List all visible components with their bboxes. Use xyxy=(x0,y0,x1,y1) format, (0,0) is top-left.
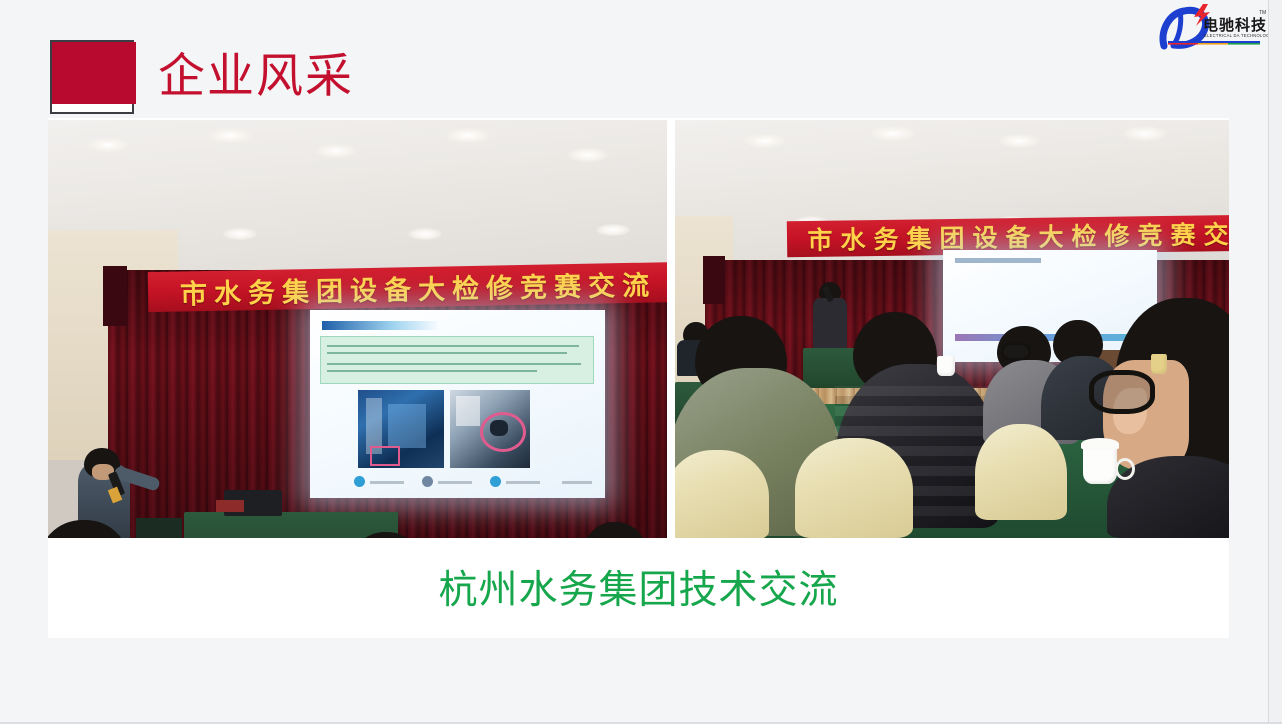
eyeglasses xyxy=(1089,370,1155,414)
slide-footer-icon xyxy=(422,476,433,487)
slide-note-box xyxy=(320,336,594,384)
red-accent-block xyxy=(48,38,136,116)
chair-cover xyxy=(795,438,913,538)
page-scrollbar-gutter[interactable] xyxy=(1269,0,1282,724)
tea-cup xyxy=(937,356,955,376)
red-accent-block-fill xyxy=(52,42,136,104)
stage-equipment xyxy=(216,500,244,512)
drink-bottle xyxy=(1151,354,1167,374)
tea-cup-handle xyxy=(1115,458,1135,480)
svg-text:电驰科技: 电驰科技 xyxy=(1203,16,1267,34)
ceiling-light xyxy=(208,128,252,143)
slide-footer-icon xyxy=(354,476,365,487)
chair-cover xyxy=(975,424,1067,520)
chair-cover xyxy=(675,450,769,538)
content-card: 市水务集团设备大检修竞赛交流 xyxy=(48,118,1229,638)
ceiling-light xyxy=(223,228,257,240)
svg-text:ELECTRICAL DA TECHNOLOGY: ELECTRICAL DA TECHNOLOGY xyxy=(1204,33,1270,38)
ceiling-light xyxy=(999,134,1039,148)
projection-screen xyxy=(310,310,605,498)
slide-image-right xyxy=(450,390,530,468)
slide-title-bar xyxy=(322,321,440,330)
photo-audience-seated[interactable]: 市水务集团设备大检修竞赛交 xyxy=(675,120,1229,538)
page-root: 电驰科技 TM ELECTRICAL DA TECHNOLOGY 企业风采 xyxy=(0,0,1282,724)
slide-footer-icon xyxy=(490,476,501,487)
page-title: 企业风采 xyxy=(158,54,354,101)
ceiling-light xyxy=(316,144,356,158)
ceiling-light xyxy=(596,224,630,236)
stage-speakerbox xyxy=(136,518,182,538)
photo-caption-text: 杭州水务集团技术交流 xyxy=(438,571,838,610)
photo-caption: 杭州水务集团技术交流 xyxy=(48,542,1229,638)
curtain-valance xyxy=(103,266,127,326)
photo-presentation-stage[interactable]: 市水务集团设备大检修竞赛交流 xyxy=(48,120,667,538)
photo-gallery: 市水务集团设备大检修竞赛交流 xyxy=(48,120,1229,538)
eyeglasses xyxy=(1001,342,1031,361)
ceiling-light xyxy=(88,138,128,152)
ceiling-light xyxy=(871,126,915,141)
tea-cup xyxy=(1083,446,1117,484)
svg-text:TM: TM xyxy=(1259,10,1266,16)
curtain-valance xyxy=(703,256,725,304)
red-accent-block-frame xyxy=(50,40,134,114)
stage-table xyxy=(184,512,398,538)
ceiling-light xyxy=(745,134,785,148)
ceiling-light xyxy=(408,228,442,240)
ceiling-light xyxy=(1123,126,1167,141)
section-header: 企业风采 xyxy=(48,38,354,116)
slide-image-left xyxy=(358,390,444,468)
brand-logo[interactable]: 电驰科技 TM ELECTRICAL DA TECHNOLOGY xyxy=(1158,2,1270,52)
tea-cup-lid xyxy=(1081,438,1119,450)
ceiling-light xyxy=(446,128,490,143)
brand-logo-mark: 电驰科技 TM ELECTRICAL DA TECHNOLOGY xyxy=(1158,2,1270,52)
ceiling-light xyxy=(568,148,608,162)
presenter-torso xyxy=(813,298,847,350)
